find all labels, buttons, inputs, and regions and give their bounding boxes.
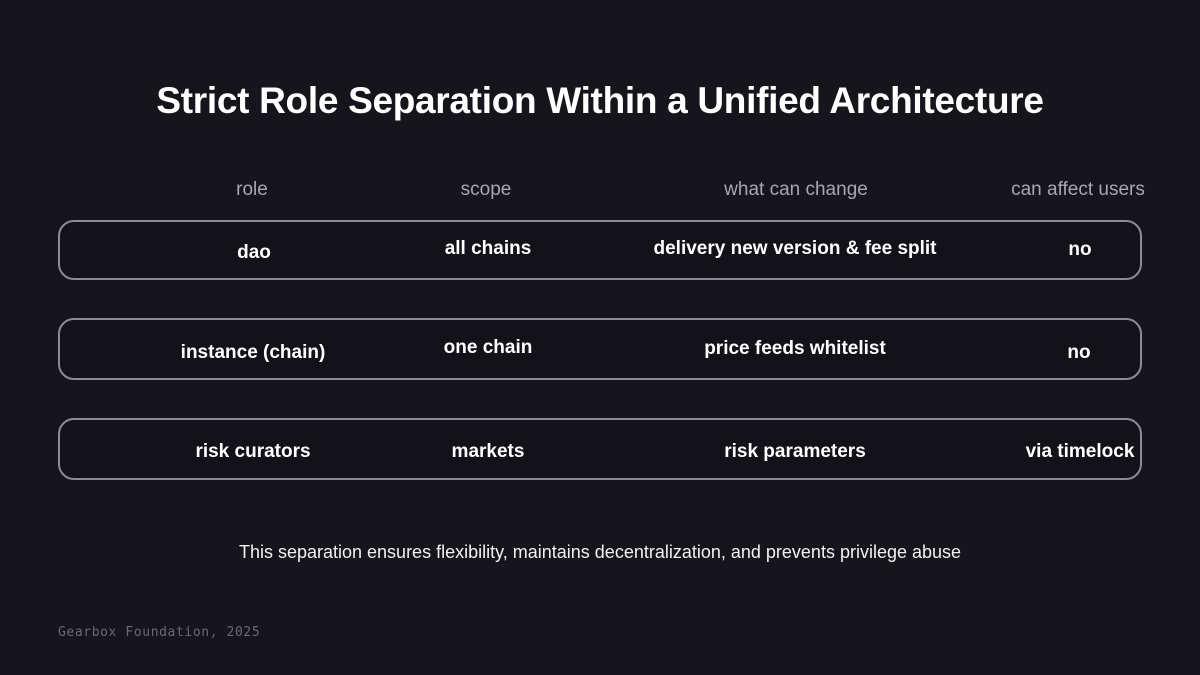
cell-scope: markets (452, 440, 525, 464)
table-row[interactable]: dao all chains delivery new version & fe… (58, 220, 1142, 280)
page-title: Strict Role Separation Within a Unified … (0, 78, 1200, 124)
cell-scope: one chain (444, 336, 533, 360)
cell-scope: all chains (445, 237, 532, 261)
cell-what-can-change: delivery new version & fee split (654, 237, 937, 261)
column-header-scope: scope (461, 176, 512, 204)
cell-can-affect-users: no (1068, 238, 1091, 262)
cell-what-can-change: risk parameters (724, 440, 866, 464)
table-row[interactable]: risk curators markets risk parameters vi… (58, 418, 1142, 480)
column-header-what-can-change: what can change (724, 176, 868, 204)
column-header-role: role (236, 176, 268, 204)
cell-can-affect-users: via timelock (1026, 440, 1135, 464)
table-header-row: role scope what can change can affect us… (58, 176, 1142, 204)
cell-can-affect-users: no (1067, 341, 1090, 365)
cell-what-can-change: price feeds whitelist (704, 337, 886, 361)
footer-attribution: Gearbox Foundation, 2025 (58, 624, 260, 642)
cell-role: risk curators (195, 440, 310, 464)
table-row[interactable]: instance (chain) one chain price feeds w… (58, 318, 1142, 380)
summary-caption: This separation ensures flexibility, mai… (0, 540, 1200, 564)
cell-role: instance (chain) (181, 341, 326, 365)
column-header-can-affect-users: can affect users (1011, 176, 1145, 204)
cell-role: dao (237, 241, 271, 265)
slide-root: Strict Role Separation Within a Unified … (0, 0, 1200, 675)
